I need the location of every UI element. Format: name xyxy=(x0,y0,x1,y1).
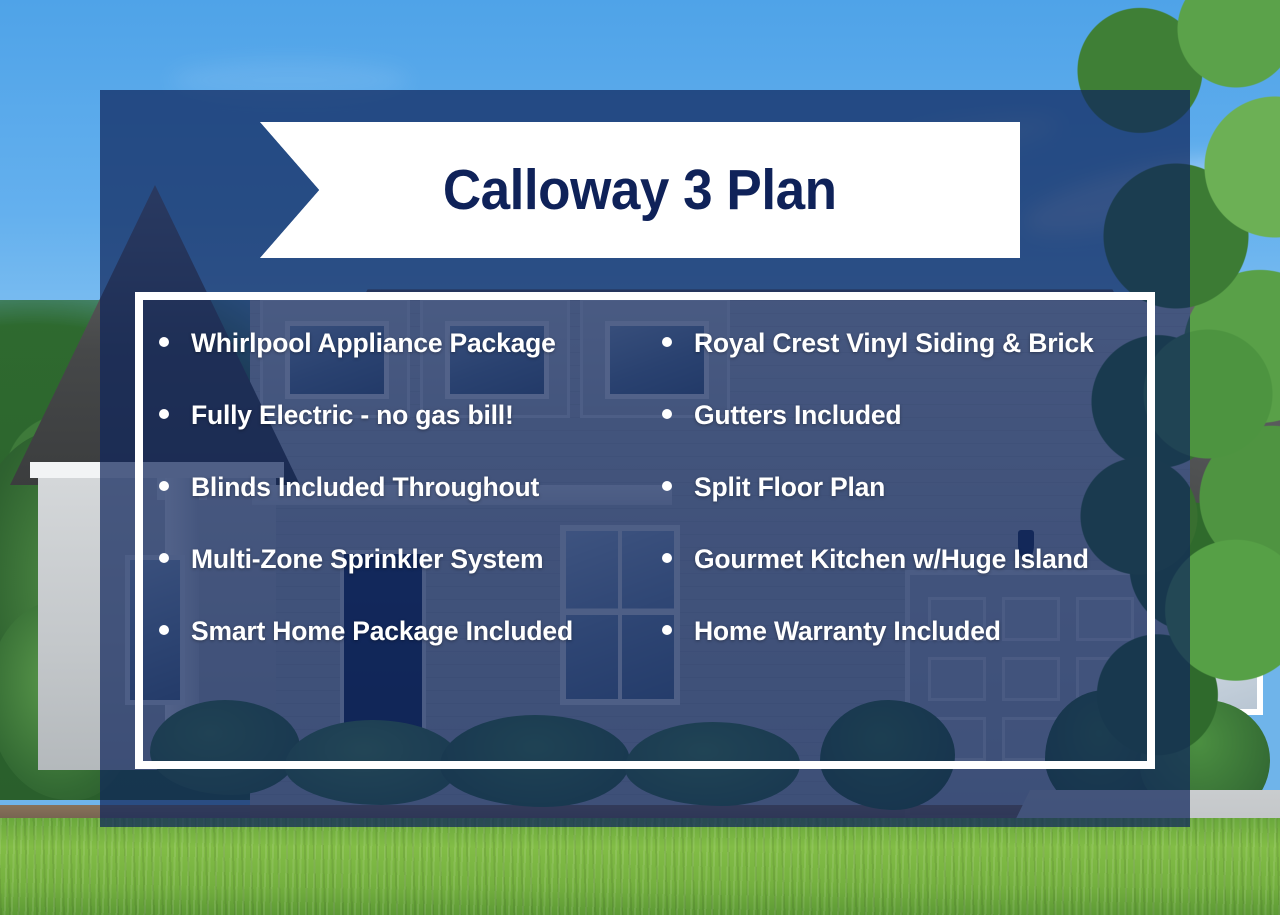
list-item: Blinds Included Throughout xyxy=(159,472,648,506)
bullet-icon xyxy=(159,409,169,419)
bullet-icon xyxy=(662,553,672,563)
marketing-flyer: Calloway 3 Plan Whirlpool Appliance Pack… xyxy=(0,0,1280,915)
bullet-icon xyxy=(159,337,169,347)
bullet-icon xyxy=(662,409,672,419)
feature-label: Gutters Included xyxy=(694,400,901,431)
features-box: Whirlpool Appliance Package Fully Electr… xyxy=(135,292,1155,769)
page-title: Calloway 3 Plan xyxy=(443,157,837,223)
list-item: Smart Home Package Included xyxy=(159,616,648,650)
feature-label: Fully Electric - no gas bill! xyxy=(191,400,514,431)
bullet-icon xyxy=(662,625,672,635)
features-columns: Whirlpool Appliance Package Fully Electr… xyxy=(143,300,1147,761)
bullet-icon xyxy=(159,553,169,563)
feature-label: Royal Crest Vinyl Siding & Brick xyxy=(694,328,1094,359)
feature-label: Smart Home Package Included xyxy=(191,616,573,647)
list-item: Split Floor Plan xyxy=(662,472,1147,506)
list-item: Royal Crest Vinyl Siding & Brick xyxy=(662,328,1147,362)
list-item: Gourmet Kitchen w/Huge Island xyxy=(662,544,1147,578)
title-ribbon: Calloway 3 Plan xyxy=(260,122,1020,258)
lawn xyxy=(0,818,1280,915)
bullet-icon xyxy=(159,625,169,635)
features-right-column: Royal Crest Vinyl Siding & Brick Gutters… xyxy=(648,328,1147,761)
list-item: Whirlpool Appliance Package xyxy=(159,328,648,362)
bullet-icon xyxy=(662,481,672,491)
list-item: Home Warranty Included xyxy=(662,616,1147,650)
bullet-icon xyxy=(662,337,672,347)
feature-label: Whirlpool Appliance Package xyxy=(191,328,556,359)
features-left-column: Whirlpool Appliance Package Fully Electr… xyxy=(143,328,648,761)
bullet-icon xyxy=(159,481,169,491)
feature-label: Home Warranty Included xyxy=(694,616,1001,647)
list-item: Fully Electric - no gas bill! xyxy=(159,400,648,434)
feature-label: Split Floor Plan xyxy=(694,472,885,503)
feature-label: Multi-Zone Sprinkler System xyxy=(191,544,543,575)
list-item: Gutters Included xyxy=(662,400,1147,434)
feature-label: Blinds Included Throughout xyxy=(191,472,539,503)
feature-label: Gourmet Kitchen w/Huge Island xyxy=(694,544,1089,575)
list-item: Multi-Zone Sprinkler System xyxy=(159,544,648,578)
title-ribbon-inner: Calloway 3 Plan xyxy=(260,122,1020,258)
